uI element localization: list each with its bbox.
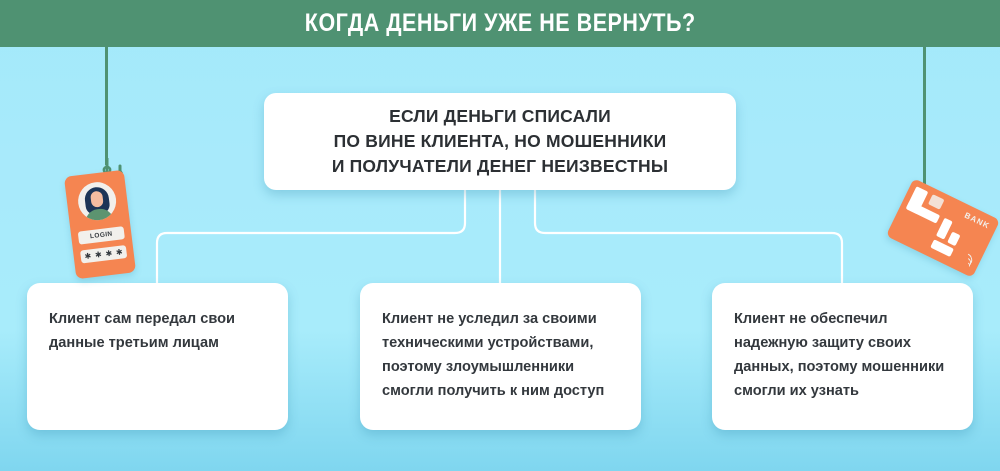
infographic-canvas: КОГДА ДЕНЬГИ УЖЕ НЕ ВЕРНУТЬ? LOGIN ✱ ✱ ✱… (0, 0, 1000, 471)
leaf-node-text: Клиент не уследил за своими техническими… (382, 307, 619, 403)
contactless-icon (958, 255, 973, 269)
leaf-node-text: Клиент сам передал свои данные третьим л… (49, 307, 266, 355)
leaf-node-card-2: Клиент не уследил за своими техническими… (360, 283, 641, 430)
connector-left (157, 190, 465, 285)
password-dot: ✱ (105, 249, 113, 258)
password-dot: ✱ (115, 248, 123, 257)
leaf-node-text: Клиент не обеспечил надежную защиту свои… (734, 307, 951, 403)
fishing-line-left (105, 45, 108, 165)
bank-card-chip-icon (928, 194, 945, 210)
avatar (76, 180, 118, 222)
fishing-line-right (923, 45, 926, 200)
password-dot: ✱ (95, 251, 103, 260)
leaf-node-card-3: Клиент не обеспечил надежную защиту свои… (712, 283, 973, 430)
connector-right (535, 190, 842, 285)
login-field-label: LOGIN (90, 231, 113, 241)
main-node-card: ЕСЛИ ДЕНЬГИ СПИСАЛИ ПО ВИНЕ КЛИЕНТА, НО … (264, 93, 736, 190)
password-field: ✱ ✱ ✱ ✱ (80, 245, 127, 264)
leaf-node-card-1: Клиент сам передал свои данные третьим л… (27, 283, 288, 430)
bank-card-stripe (947, 231, 960, 246)
page-title: КОГДА ДЕНЬГИ УЖЕ НЕ ВЕРНУТЬ? (305, 9, 696, 38)
password-dot: ✱ (84, 252, 92, 261)
login-field: LOGIN (78, 226, 125, 245)
login-card-decoration: LOGIN ✱ ✱ ✱ ✱ (64, 170, 136, 280)
bank-card-label: BANK (963, 211, 991, 231)
header-bar: КОГДА ДЕНЬГИ УЖЕ НЕ ВЕРНУТЬ? (0, 0, 1000, 47)
main-node-text: ЕСЛИ ДЕНЬГИ СПИСАЛИ ПО ВИНЕ КЛИЕНТА, НО … (332, 104, 668, 179)
